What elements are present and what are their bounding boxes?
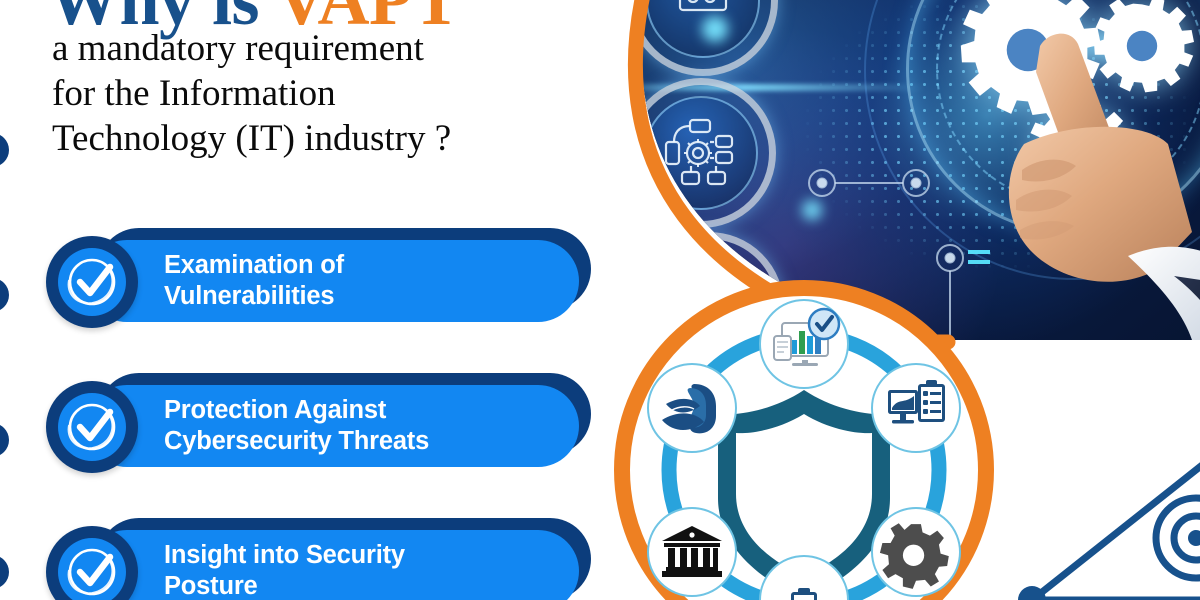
page-subtitle-line-3: Technology (IT) industry ? xyxy=(52,116,582,161)
page-subtitle: a mandatory requirement for the Informat… xyxy=(52,26,582,161)
list-item[interactable]: Insight into Security Posture xyxy=(46,518,591,600)
list-item-label: Insight into Security Posture xyxy=(164,530,567,600)
navy-dot-strip xyxy=(0,120,20,590)
list-item-label: Examination of Vulnerabilities xyxy=(164,240,567,322)
wireframe-server-icon xyxy=(670,0,736,26)
pointing-hand xyxy=(978,24,1200,340)
page-subtitle-line-2: for the Information xyxy=(52,71,582,116)
wireframe-process-icon xyxy=(664,112,746,194)
list-item-label-line-2: Posture xyxy=(164,571,567,600)
photo-glow-dot xyxy=(684,252,718,270)
check-circle-icon xyxy=(46,236,138,328)
list-item[interactable]: Protection Against Cybersecurity Threats xyxy=(46,373,591,468)
page-subtitle-line-1: a mandatory requirement xyxy=(52,26,582,71)
list-item-label: Protection Against Cybersecurity Threats xyxy=(164,385,567,467)
gear-icon xyxy=(872,508,960,596)
security-circle-diagram xyxy=(604,300,1014,600)
hand-pointing-at-digital-gears-photo xyxy=(606,0,1200,340)
list-item-label-line-1: Examination of xyxy=(164,250,567,281)
check-circle-icon xyxy=(46,381,138,473)
infographic-canvas: Why is VAPT a mandatory requirement for … xyxy=(0,0,1200,600)
pill-leaf-icon xyxy=(648,364,736,452)
chart-monitor-check-icon xyxy=(760,300,848,388)
list-item[interactable]: Examination of Vulnerabilities xyxy=(46,228,591,323)
check-circle-icon xyxy=(46,526,138,600)
bank-icon xyxy=(648,508,736,596)
network-node-graphic xyxy=(1010,440,1200,600)
list-item-label-line-1: Protection Against xyxy=(164,395,567,426)
list-item-label-line-2: Cybersecurity Threats xyxy=(164,426,567,457)
list-item-label-line-1: Insight into Security xyxy=(164,540,567,571)
monitor-checklist-icon xyxy=(872,364,960,452)
list-item-label-line-2: Vulnerabilities xyxy=(164,281,567,312)
